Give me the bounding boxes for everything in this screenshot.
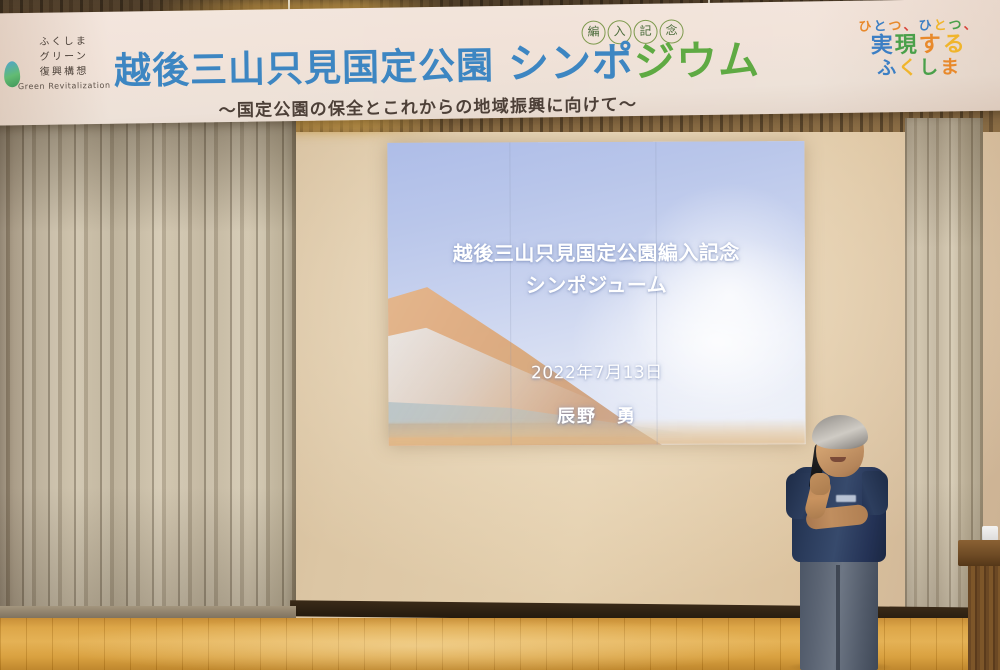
symposium-char-5: ム (718, 36, 761, 85)
symposium-char-0: シ (508, 39, 551, 88)
banner-title: 越後三山只見国定公園シンポジウム (114, 38, 761, 94)
row1-char-4: ひ (918, 20, 931, 33)
wooden-podium (958, 540, 1000, 670)
fukushima-green-logo: ふくしま グリーン 復興構想 Green Revitalization (4, 34, 125, 114)
logo-left-line-1: ふくしま (4, 34, 124, 51)
row1-char-0: ひ (858, 21, 871, 34)
banner-title-symposium: シンポジウム (508, 36, 761, 88)
speaker-leg-seam (836, 565, 840, 670)
slide-title-line-1: 越後三山只見国定公園編入記念 (388, 236, 805, 267)
event-banner: ふくしま グリーン 復興構想 Green Revitalization 編入記念… (0, 0, 1000, 126)
speaker-person (780, 415, 910, 670)
shirt-logo (836, 495, 856, 502)
row3-char-2: し (919, 59, 938, 78)
symposium-char-3: ジ (634, 37, 677, 86)
symposium-char-1: ン (550, 39, 593, 88)
row1-char-5: と (933, 19, 946, 32)
row3-char-3: ま (940, 58, 959, 77)
row2-char-3: る (943, 34, 965, 56)
curtain-left (0, 120, 296, 630)
logo-left-line-2: グリーン (4, 49, 124, 66)
projection-screen: 越後三山只見国定公園編入記念 シンポジューム 2022年7月13日 辰野 勇 (387, 141, 805, 446)
speaker-hair (812, 415, 868, 449)
slide-title-line-2: シンポジューム (388, 268, 805, 299)
row1-char-1: と (873, 20, 886, 33)
logo-right-row-2: 実現する (854, 34, 982, 58)
logo-left-line-3: 復興構想 (4, 64, 124, 81)
logo-right-row-3: ふくしま (854, 58, 982, 79)
row2-char-0: 実 (871, 35, 893, 57)
row3-char-0: ふ (877, 59, 896, 78)
row3-char-1: く (898, 59, 917, 78)
row1-char-7: 、 (963, 19, 976, 32)
podium-body (968, 566, 1000, 670)
slide-date: 2022年7月13日 (388, 357, 805, 384)
curtain-left-shading (0, 120, 296, 630)
speaker-hand (810, 473, 830, 495)
logo-left-english: Green Revitalization (4, 81, 124, 92)
fukushima-realization-logo: ひとつ、ひとつ、 実現する ふくしま (853, 19, 982, 103)
podium-top-surface (958, 540, 1000, 566)
row1-char-3: 、 (903, 20, 916, 33)
row2-char-2: す (919, 34, 941, 56)
slide-presenter-name: 辰野 勇 (388, 401, 805, 429)
banner-title-park: 越後三山只見国定公園 (114, 44, 495, 93)
symposium-char-4: ウ (676, 37, 719, 86)
row2-char-1: 現 (895, 35, 917, 57)
speaker-mouth (830, 457, 846, 462)
symposium-char-2: ポ (592, 38, 635, 87)
stage-photo-scene: 越後三山只見国定公園編入記念 シンポジューム 2022年7月13日 辰野 勇 ふ… (0, 0, 1000, 670)
row1-char-6: つ (948, 19, 961, 32)
row1-char-2: つ (888, 20, 901, 33)
